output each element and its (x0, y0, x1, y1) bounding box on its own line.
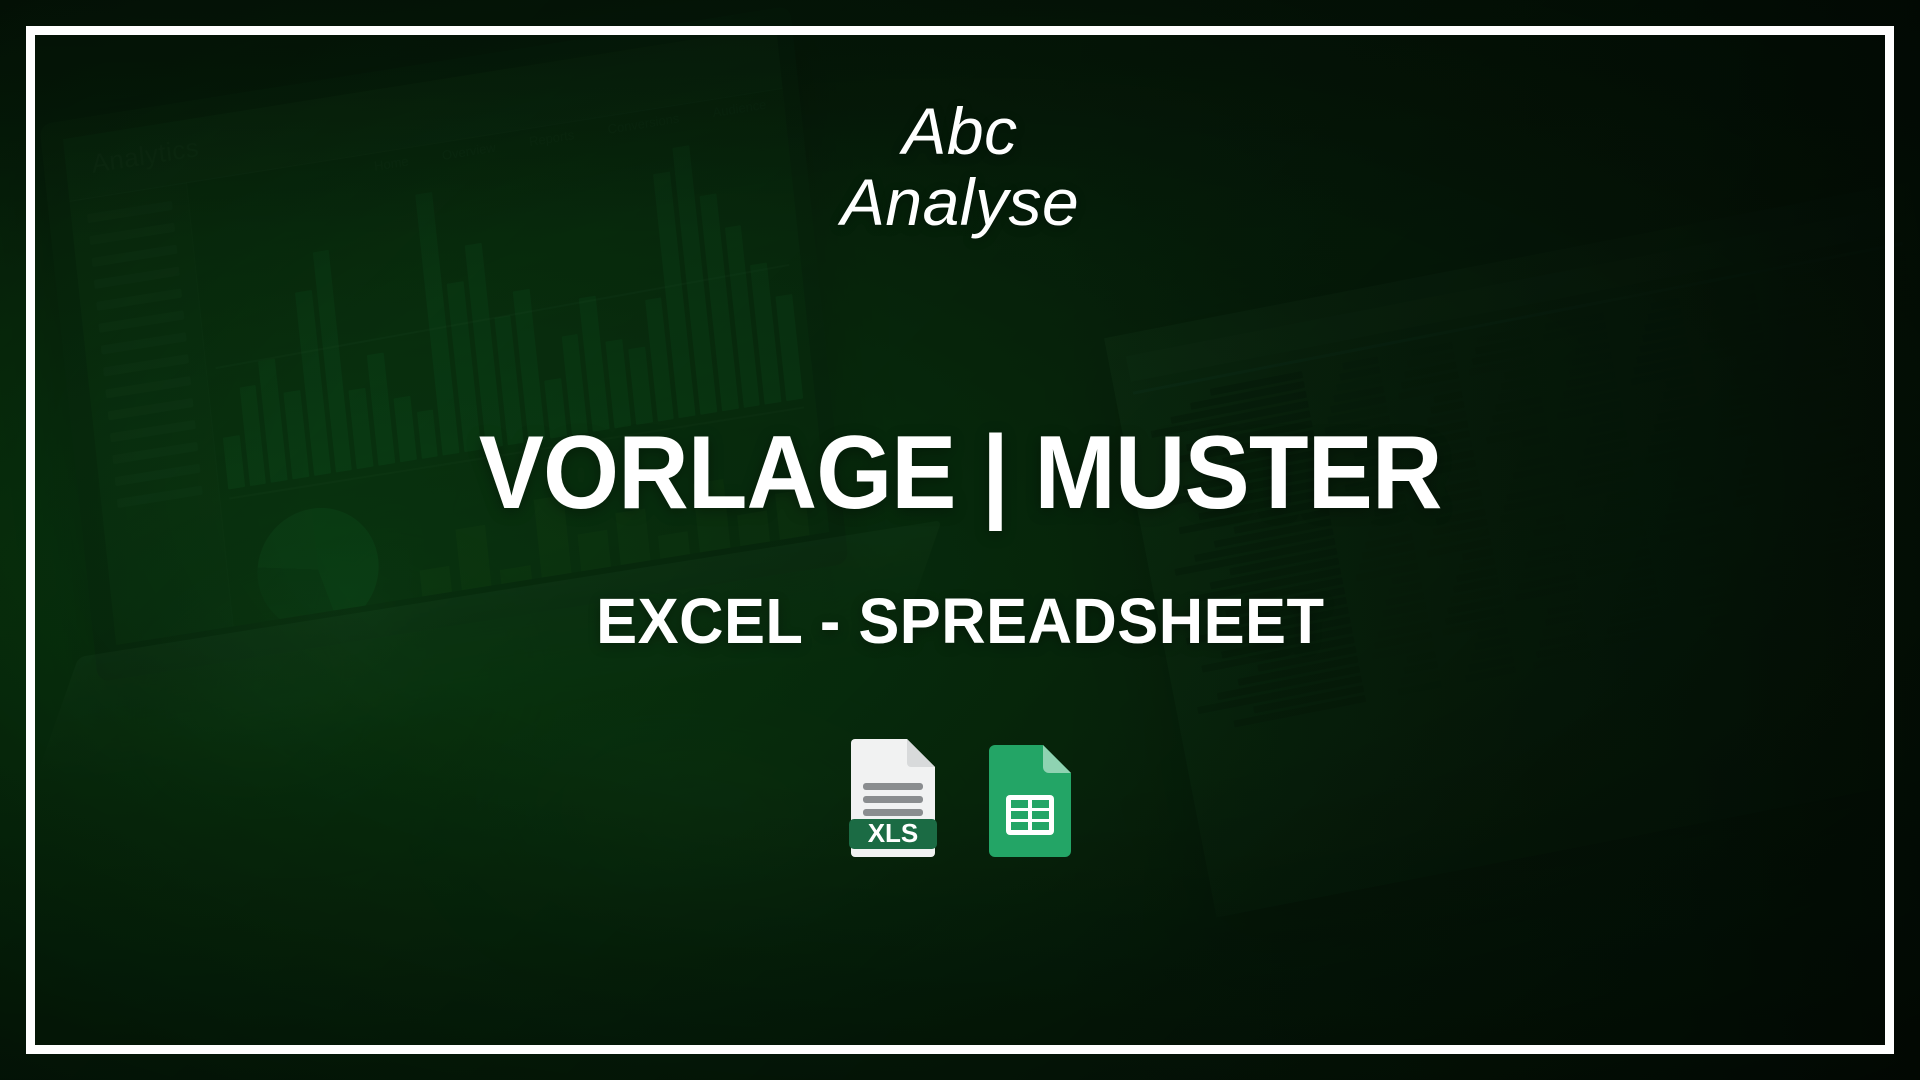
kicker-line-1: Abc (841, 96, 1079, 167)
page-subtitle: EXCEL - SPREADSHEET (596, 589, 1324, 653)
file-format-icons: XLS (849, 739, 1071, 857)
page-title: VORLAGE | MUSTER (479, 421, 1442, 525)
kicker-text: Abc Analyse (841, 96, 1079, 239)
xls-text-line (863, 783, 923, 790)
xls-text-line (863, 796, 923, 803)
poster-content: Abc Analyse VORLAGE | MUSTER EXCEL - SPR… (0, 0, 1920, 1080)
google-sheets-icon[interactable] (989, 745, 1071, 857)
kicker-line-2: Analyse (841, 167, 1079, 238)
xls-badge-label: XLS (868, 818, 919, 848)
sheets-table-glyph (1006, 795, 1054, 835)
poster-canvas: Analytics HomeOverviewReportsConversions… (0, 0, 1920, 1080)
sheets-fold-corner (1043, 745, 1071, 773)
xls-file-icon[interactable]: XLS (849, 739, 937, 857)
xls-text-line (863, 809, 923, 816)
xls-fold-corner (907, 739, 935, 767)
